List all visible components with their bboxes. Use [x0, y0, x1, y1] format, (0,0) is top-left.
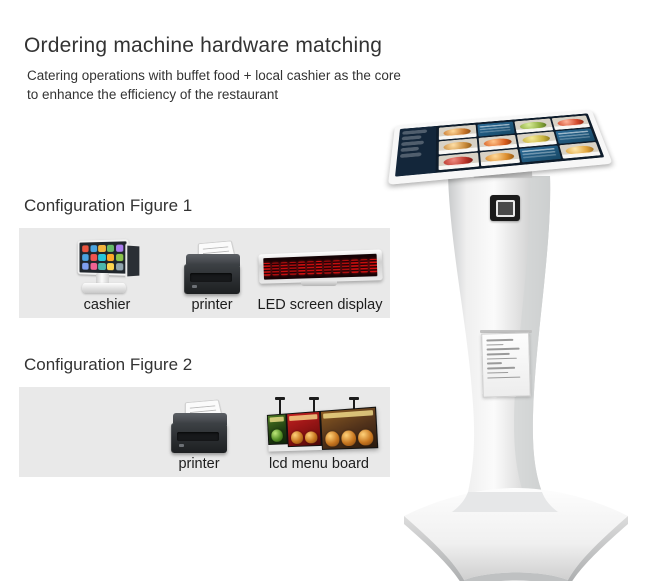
printer-status-led: [179, 444, 184, 447]
sidebar-chip[interactable]: [402, 129, 427, 134]
thermal-printer-icon: [178, 240, 246, 296]
pos-terminal-icon: [70, 240, 144, 296]
pos-stand-base: [82, 283, 126, 293]
page-title: Ordering machine hardware matching: [24, 34, 382, 58]
hardware-item-led-display[interactable]: LED screen display: [255, 250, 385, 314]
led-display-icon: [255, 250, 385, 296]
self-ordering-kiosk: [382, 92, 650, 581]
sidebar-chip[interactable]: [402, 135, 422, 140]
lcd-menu-board-icon: [257, 399, 381, 455]
ordering-ui: [395, 113, 604, 176]
hardware-label-cashier: cashier: [57, 296, 157, 314]
hardware-item-printer-2[interactable]: printer: [149, 399, 249, 473]
configuration-panel-figure-1: cashier printer LED screen disp: [19, 228, 390, 318]
hardware-item-printer-1[interactable]: printer: [162, 240, 262, 314]
slide-root: Ordering machine hardware matching Cater…: [0, 0, 650, 581]
lcd-panel-row: [267, 407, 378, 452]
hardware-item-lcd-menu-board[interactable]: lcd menu board: [254, 399, 384, 473]
menu-tile[interactable]: [559, 142, 601, 159]
sidebar-chip[interactable]: [401, 141, 424, 147]
lcd-panel: [320, 407, 378, 450]
sidebar-chip[interactable]: [400, 152, 422, 158]
section-title-figure-1: Configuration Figure 1: [24, 196, 192, 216]
sidebar-chip[interactable]: [400, 147, 418, 152]
scanner-lens-icon: [496, 200, 515, 217]
thermal-printer-icon: [165, 399, 233, 455]
section-title-figure-2: Configuration Figure 2: [24, 355, 192, 375]
hardware-item-cashier[interactable]: cashier: [57, 240, 157, 314]
pos-screen: [78, 239, 129, 276]
menu-tile[interactable]: [479, 149, 520, 166]
led-display-frame: [258, 249, 382, 283]
hardware-label-printer-2: printer: [149, 455, 249, 473]
hardware-label-lcd-menu-board: lcd menu board: [254, 455, 384, 473]
printer-status-led: [192, 285, 197, 288]
menu-tile[interactable]: [439, 153, 479, 171]
printer-slot: [177, 432, 219, 441]
configuration-panel-figure-2: printer lcd menu bo: [19, 387, 390, 477]
menu-tile-grid: [436, 113, 605, 172]
lcd-panel: [286, 411, 322, 447]
hardware-label-led-display: LED screen display: [255, 296, 385, 314]
led-display-stand: [301, 281, 337, 286]
hardware-label-printer-1: printer: [162, 296, 262, 314]
pos-customer-display: [125, 243, 141, 278]
subtitle-line-1: Catering operations with buffet food + l…: [27, 66, 497, 85]
ordering-ui-sidebar[interactable]: [395, 126, 436, 177]
printed-receipt: [481, 332, 531, 397]
menu-tile[interactable]: [519, 145, 560, 162]
led-display-panel: [263, 254, 377, 280]
lcd-panel: [267, 413, 288, 445]
printer-slot: [190, 273, 232, 282]
qr-scanner-module[interactable]: [490, 195, 520, 221]
